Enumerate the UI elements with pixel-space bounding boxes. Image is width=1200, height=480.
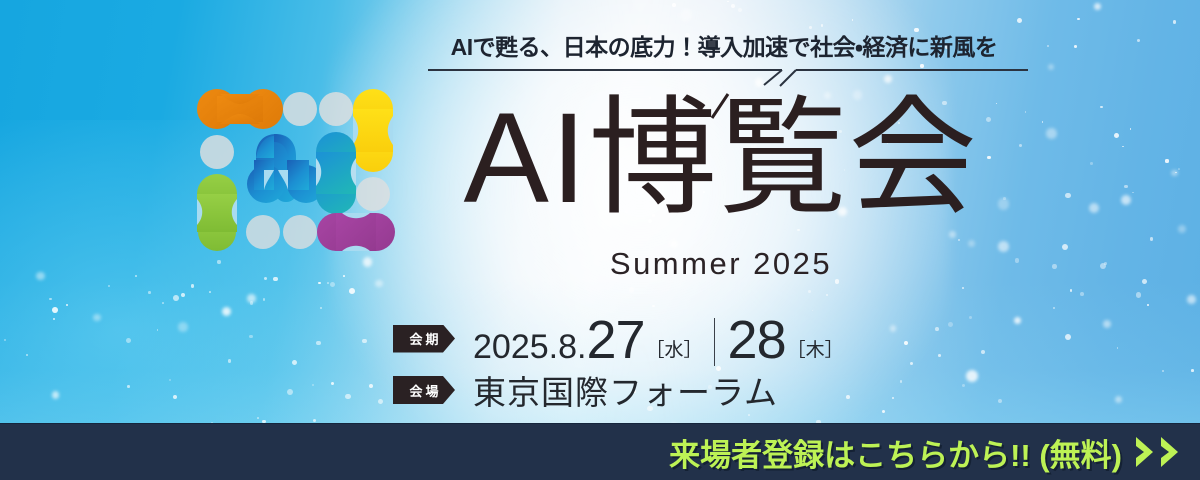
logo-cell-yellow [353,89,393,172]
date-year-month: 2025.8. [473,328,586,367]
logo-cell-neutral [200,135,234,169]
tagline-text: AIで甦る、日本の底力！導入加速で社会・経済に新風を [424,28,1024,62]
date-row: 会期 2025.8. 27 ［水］ 28 ［木］ [393,310,844,367]
date-weekday-1: ［水］ [646,335,703,362]
main-title-text: AI博覧会 [464,87,979,230]
logo-cell-green [197,174,237,251]
logo-cell-orange [197,89,283,129]
logo-cell-purple [317,213,395,251]
logo-cell-neutral [356,177,390,211]
logo-cell-neutral [283,215,317,249]
date-separator [714,318,715,366]
logo-cell-blue-i [316,132,356,214]
date-day-1: 27 [586,318,644,364]
logo-cell-neutral [283,92,317,126]
venue-name: 東京国際フォーラム [473,366,778,414]
ai-expo-banner: AIで甦る、日本の底力！導入加速で社会・経済に新風を AI博覧会 Summer … [0,0,1200,480]
venue-tag-badge: 会場 [393,376,455,404]
ai-expo-logo-mark [196,86,396,252]
date-tag-badge: 会期 [393,325,455,353]
registration-cta-label[interactable]: 来場者登録はこちらから!! (無料) [669,430,1122,475]
main-title: AI博覧会 [436,84,1006,234]
date-value: 2025.8. 27 ［水］ 28 ［木］ [473,310,844,367]
logo-cell-neutral [246,215,280,249]
title-subtitle: Summer 2025 [436,246,1006,282]
tagline-rule [420,64,1028,86]
date-day-2: 28 [728,318,786,364]
double-chevron-right-icon[interactable] [1134,435,1182,469]
logo-cell-blue-a [247,134,325,203]
venue-row: 会場 東京国際フォーラム [393,366,778,414]
logo-cell-neutral [319,92,353,126]
registration-cta-bar[interactable]: 来場者登録はこちらから!! (無料) [0,423,1200,480]
date-weekday-2: ［木］ [787,335,844,362]
tagline-block: AIで甦る、日本の底力！導入加速で社会・経済に新風を [424,28,1024,80]
